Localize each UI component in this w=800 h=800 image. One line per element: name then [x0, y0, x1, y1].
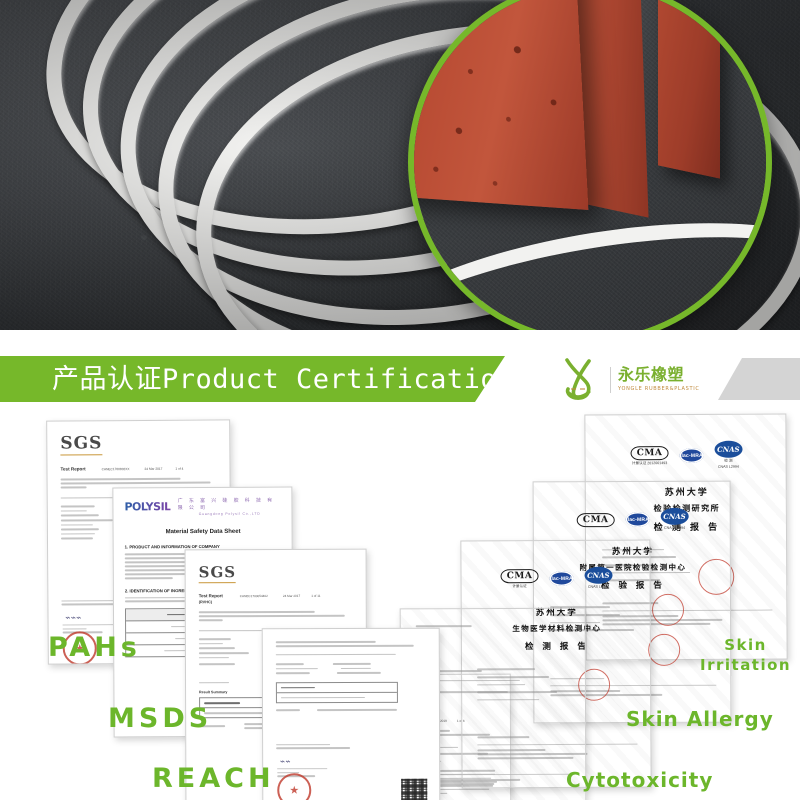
- msds-company-en: Guangdong Polysil Co.,LTD: [178, 512, 282, 517]
- accreditation-marks: CMA 计量认证 2012001493 ilac-MRA CNAS 检 测 CN…: [601, 441, 771, 472]
- cma-mark: CMA: [501, 569, 539, 583]
- cnas-code: CNAS L2994: [714, 465, 742, 471]
- report-page: 1 of 11: [311, 594, 320, 598]
- brand-name-cn: 永乐橡塑: [618, 367, 700, 384]
- certificate-sgs-overlap[interactable]: ⌁⌁: [262, 628, 441, 800]
- foam-pore-texture: [408, 0, 588, 210]
- hero-divider: [0, 330, 800, 352]
- signature: ⌁⌁: [279, 757, 290, 767]
- page-title: 产品认证Product Certification: [0, 366, 514, 393]
- caption-skin-allergy: Skin Allergy: [626, 709, 774, 729]
- brand-text: 永乐橡塑 YONGLE RUBBER&PLASTIC: [610, 367, 700, 393]
- caption-msds: MSDS: [108, 705, 212, 732]
- report-variant-label: (RVHC): [199, 600, 355, 605]
- msds-doc-title: Material Safety Data Sheet: [125, 529, 282, 536]
- brand-name-en: YONGLE RUBBER&PLASTIC: [618, 386, 700, 393]
- signature: ⌁⌁⌁: [64, 613, 80, 623]
- report-date: 24 Mar 2017: [144, 467, 162, 471]
- caption-reach: REACH: [152, 765, 275, 792]
- table-row: [277, 693, 397, 702]
- cnas-mark: CNAS: [660, 508, 688, 525]
- sponge-strip-secondary: [658, 0, 720, 179]
- polysil-logo: POLYSIL: [124, 500, 170, 513]
- yongle-leaf-icon-svg: [556, 356, 606, 404]
- caption-cytotoxicity: Cytotoxicity: [566, 770, 713, 790]
- report-title: Test Report: [60, 466, 85, 471]
- cma-code: 计量认证 2012001493: [631, 461, 669, 467]
- report-number: CANEC1700802XX: [102, 467, 130, 471]
- caption-pahs: PAHs: [48, 634, 141, 661]
- cnas-mark: CNAS: [714, 441, 742, 458]
- ilac-mra-mark: ilac-MRA: [625, 512, 649, 527]
- caption-skin-irritation-text: SkinIrritation: [700, 636, 791, 674]
- sgs-logo: SGS: [60, 433, 102, 455]
- report-date: 24 Mar 2017: [283, 594, 300, 598]
- qr-code: [401, 779, 427, 800]
- caption-skin-irritation: SkinIrritation: [700, 635, 791, 676]
- yongle-leaf-icon: [556, 356, 606, 404]
- hero-product-photo: [0, 0, 800, 330]
- page-title-en: Product Certification: [162, 364, 514, 395]
- red-round-stamp: [652, 594, 684, 626]
- brand-logo: 永乐橡塑 YONGLE RUBBER&PLASTIC: [556, 356, 716, 404]
- cma-code: 计量认证: [501, 584, 539, 590]
- cnas-mark-cn: 检 测: [714, 459, 742, 465]
- magnifier-circle: [408, 0, 772, 330]
- cnas-code: CNAS L2994: [584, 585, 612, 591]
- header-banner: 产品认证Product Certification: [0, 356, 530, 402]
- accreditation-marks: CMA 计量认证 ilac-MRA CNAS CNAS L2994: [476, 567, 636, 591]
- cnas-mark: CNAS: [584, 567, 612, 584]
- cma-mark: CMA: [631, 446, 669, 460]
- header-gray-tab: [718, 358, 800, 400]
- result-table: [276, 682, 398, 703]
- report-title: Test Report: [199, 593, 223, 598]
- accreditation-marks: CMA ilac-MRA CNAS CNAS L2994: [550, 508, 716, 532]
- ilac-mra-mark: ilac-MRA: [679, 448, 703, 463]
- cnas-code: CNAS L2994: [661, 526, 689, 531]
- red-round-stamp: [648, 634, 680, 666]
- ilac-mra-mark: ilac-MRA: [549, 571, 573, 586]
- cma-mark: CMA: [577, 513, 615, 527]
- msds-company-cn: 广 东 富 兴 硅 胶 科 技 有 限 公 司: [178, 497, 282, 512]
- report-page: 1 of 4: [175, 467, 183, 471]
- product-certification-page: 产品认证Product Certification 永乐橡塑 YONGLE RU…: [0, 0, 800, 800]
- table-header-row: [277, 683, 397, 693]
- certificate-collage: SGS Test Report CANEC1700802XX 24 Mar 20…: [0, 402, 800, 800]
- report-number: CANEC1700054402: [240, 594, 268, 598]
- page-title-cn: 产品认证: [52, 364, 162, 395]
- sponge-cut-face: [408, 0, 588, 210]
- sgs-logo: SGS: [199, 563, 237, 583]
- official-stamp: [277, 773, 311, 800]
